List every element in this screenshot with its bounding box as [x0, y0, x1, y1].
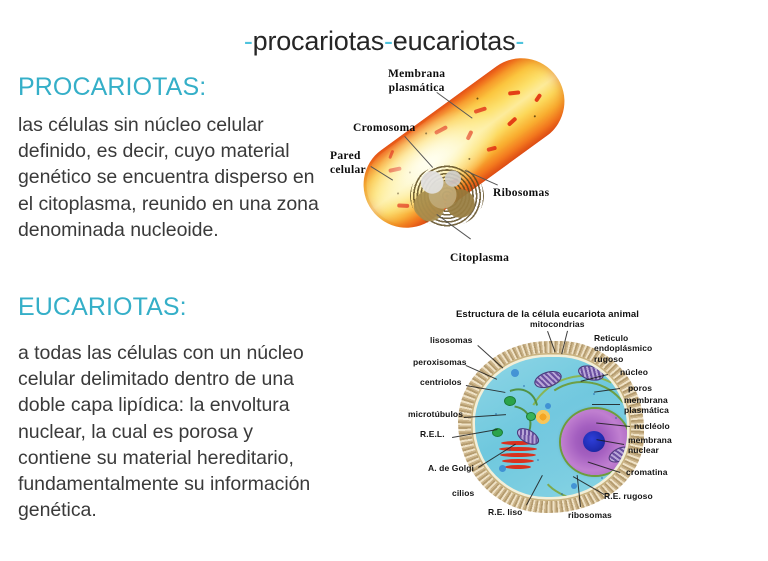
- leader-line-membrana-plasmatica: [592, 404, 620, 405]
- lysosome: [527, 413, 535, 420]
- label-membrana-line2: plasmática: [388, 82, 445, 96]
- label-cromosoma: Cromosoma: [353, 122, 416, 136]
- vesicle: [571, 483, 577, 489]
- title-dash-middle: -: [384, 26, 393, 56]
- label-ribosomas: Ribosomas: [493, 187, 549, 201]
- nucleolus: [583, 431, 605, 452]
- label-cilios: cilios: [452, 488, 474, 498]
- label-microtubulos: microtúbulos: [408, 409, 463, 419]
- label-re-liso: R.E. liso: [488, 507, 522, 517]
- vesicle: [545, 403, 551, 409]
- lysosome: [505, 397, 515, 405]
- heading-eucariotas: EUCARIOTAS:: [18, 294, 330, 320]
- label-centriolos: centriolos: [420, 377, 462, 387]
- title-dash-left: -: [244, 26, 253, 56]
- label-reticulo-endoplasmico-rugoso: Reticulo endoplásmico rugoso: [594, 333, 656, 364]
- label-ribosomas-euc: ribosomas: [568, 510, 612, 520]
- vesicle: [511, 369, 519, 377]
- paragraph-procariotas: las células sin núcleo celular definido,…: [18, 112, 330, 243]
- prokaryote-cell-diagram: Membrana plasmática Cromosoma Pared celu…: [325, 62, 625, 287]
- centriole: [535, 409, 551, 425]
- page-title: -procariotas-eucariotas-: [0, 26, 768, 57]
- label-poros: poros: [628, 383, 652, 393]
- paragraph-eucariotas: a todas las células con un núcleo celula…: [18, 340, 330, 524]
- label-pared-line1: Pared: [330, 150, 366, 164]
- label-membrana-plasmatica: Membrana plasmática: [388, 68, 445, 95]
- label-peroxisomas: peroxisomas: [413, 357, 467, 367]
- label-nucleo: núcleo: [620, 367, 648, 377]
- title-dash-right: -: [515, 26, 524, 56]
- label-nucleolo: nucléolo: [634, 421, 670, 431]
- label-re-rugoso: R.E. rugoso: [604, 491, 653, 501]
- title-word-procariotas: procariotas: [253, 26, 384, 56]
- animal-cell-illustration: [458, 341, 644, 513]
- label-rel: R.E.L.: [420, 429, 445, 439]
- vesicle: [499, 465, 506, 472]
- label-pared-celular: Pared celular: [330, 150, 366, 177]
- label-citoplasma: Citoplasma: [450, 252, 509, 266]
- label-lisosomas: lisosomas: [430, 335, 472, 345]
- title-word-eucariotas: eucariotas: [393, 26, 516, 56]
- heading-procariotas: PROCARIOTAS:: [18, 74, 330, 100]
- label-membrana-line1: Membrana: [388, 68, 445, 82]
- eukaryote-cell-diagram: Estructura de la célula eucariota animal: [408, 305, 768, 555]
- cytoplasm-area: [475, 357, 627, 497]
- label-mitocondrias: mitocondrias: [530, 319, 585, 329]
- label-cromatina: cromatina: [626, 467, 668, 477]
- label-aparato-golgi: A. de Golgi: [428, 463, 474, 473]
- label-membrana-nuclear: membrana nuclear: [628, 435, 688, 456]
- label-membrana-plasmatica-euc: membrana plasmática: [624, 395, 690, 416]
- label-pared-line2: celular: [330, 164, 366, 178]
- slide-canvas: -procariotas-eucariotas- PROCARIOTAS: la…: [0, 0, 768, 561]
